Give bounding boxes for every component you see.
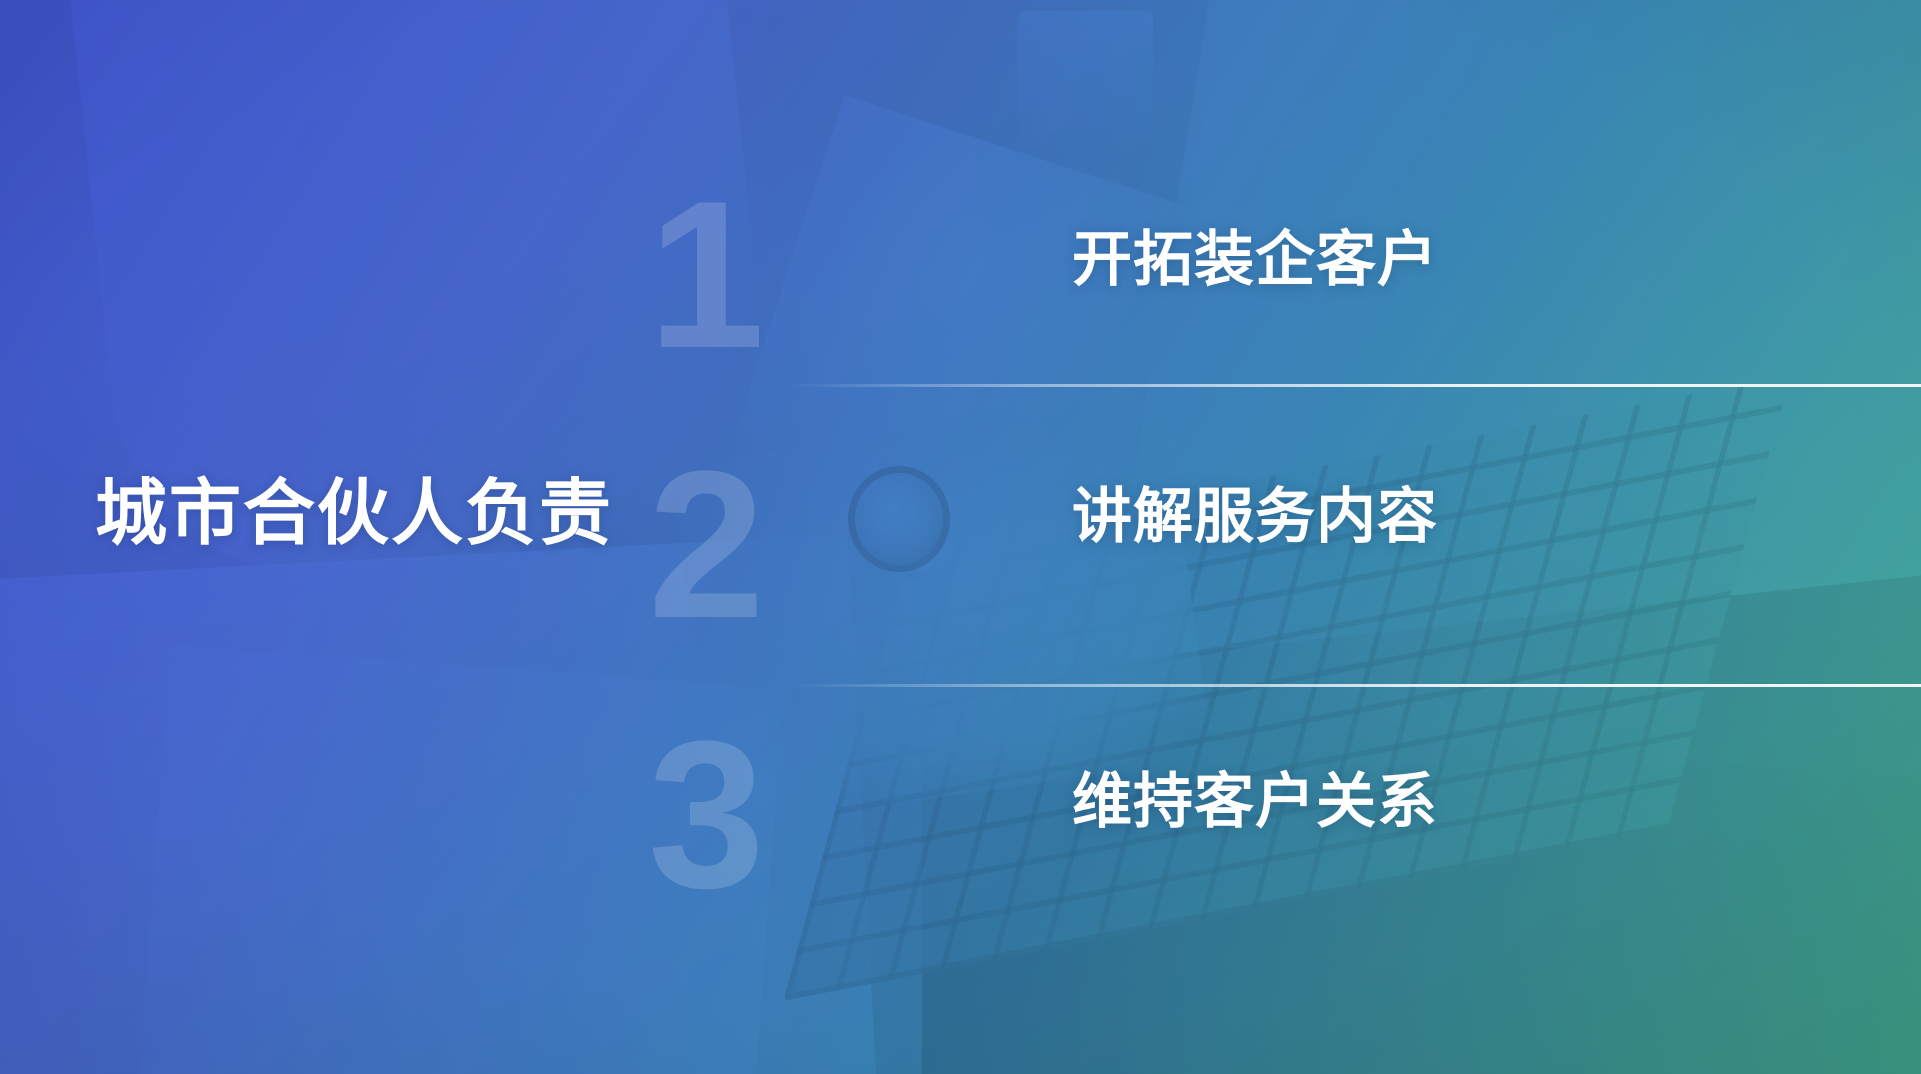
page-title: 城市合伙人负责: [95, 478, 613, 550]
ghost-number-1: 1: [648, 170, 765, 380]
ghost-number-3: 3: [648, 710, 765, 920]
slide-content: 城市合伙人负责 1 2 3 开拓装企客户 讲解服务内容 维持客户关系: [0, 0, 1921, 1074]
list-item-label-1: 开拓装企客户: [1072, 230, 1438, 290]
divider-2: [790, 684, 1921, 687]
list-item-label-3: 维持客户关系: [1072, 772, 1438, 832]
divider-1: [790, 384, 1921, 387]
presentation-slide: 城市合伙人负责 1 2 3 开拓装企客户 讲解服务内容 维持客户关系: [0, 0, 1921, 1074]
ghost-number-2: 2: [648, 440, 765, 650]
list-item-label-2: 讲解服务内容: [1072, 487, 1438, 547]
